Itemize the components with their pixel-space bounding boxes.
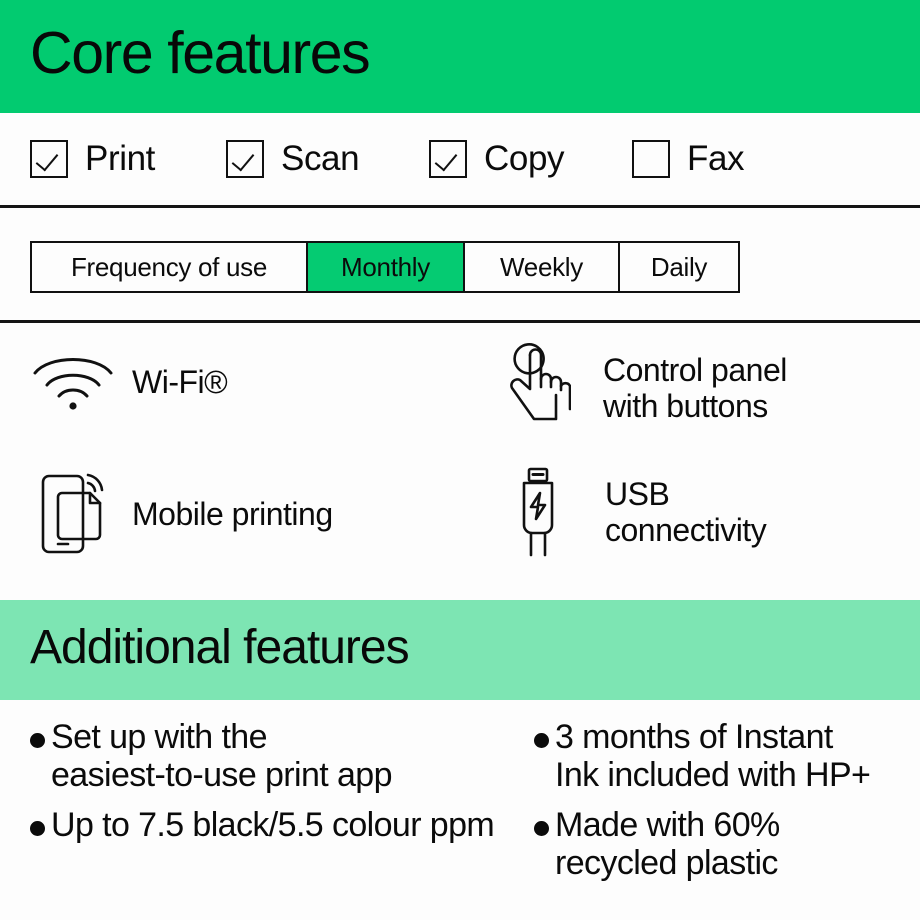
frequency-option-daily[interactable]: Daily [620,243,738,291]
checkbox-item-scan[interactable]: Scan [226,140,359,178]
additional-features-bullets: Set up with the easiest-to-use print app… [0,700,920,920]
bullet-column-left: Set up with the easiest-to-use print app… [30,718,530,856]
feature-item-usb: USB connectivity [495,466,766,558]
list-item: Set up with the easiest-to-use print app [30,718,530,794]
checkbox-label-fax: Fax [687,141,744,176]
checkbox-item-print[interactable]: Print [30,140,155,178]
bullet-text: Set up with the easiest-to-use print app [51,718,392,794]
checkbox-label-scan: Scan [281,141,359,176]
core-features-title: Core features [30,24,369,83]
feature-label-wifi: Wi-Fi® [132,364,227,400]
mobile-print-icon [30,471,116,557]
frequency-of-use-segmented-control[interactable]: Frequency of use Monthly Weekly Daily [30,241,740,293]
checkbox-item-copy[interactable]: Copy [429,140,564,178]
list-item: Made with 60% recycled plastic [534,806,914,882]
frequency-option-monthly[interactable]: Monthly [308,243,465,291]
feature-label-usb: USB connectivity [605,476,766,548]
checkbox-checked-icon[interactable] [429,140,467,178]
touch-hand-icon [495,343,581,433]
printer-features-panel: Core features Print Scan Copy Fax Freque… [0,0,920,920]
bullet-dot-icon [534,733,549,748]
feature-label-mobile-printing: Mobile printing [132,496,333,532]
checkbox-label-print: Print [85,141,155,176]
bullet-dot-icon [30,733,45,748]
bullet-dot-icon [534,821,549,836]
list-item: 3 months of Instant Ink included with HP… [534,718,914,794]
core-capability-checkbox-row: Print Scan Copy Fax [0,113,920,205]
core-features-header: Core features [0,0,920,113]
feature-item-control-panel: Control panel with buttons [495,343,787,433]
frequency-control-label: Frequency of use [32,243,308,291]
checkbox-unchecked-icon[interactable] [632,140,670,178]
bullet-text: Up to 7.5 black/5.5 colour ppm [51,806,494,844]
bullet-column-right: 3 months of Instant Ink included with HP… [534,718,914,894]
checkbox-item-fax[interactable]: Fax [632,140,744,178]
divider-rule-top [0,205,920,208]
wifi-icon [30,351,116,413]
bullet-dot-icon [30,821,45,836]
usb-cable-icon [495,466,581,558]
frequency-option-weekly[interactable]: Weekly [465,243,620,291]
feature-item-wifi: Wi-Fi® [30,351,227,413]
checkbox-label-copy: Copy [484,141,564,176]
feature-item-mobile-printing: Mobile printing [30,471,333,557]
bullet-text: Made with 60% recycled plastic [555,806,780,882]
checkbox-checked-icon[interactable] [30,140,68,178]
additional-features-title: Additional features [30,624,409,672]
feature-label-control-panel: Control panel with buttons [603,352,787,424]
bullet-text: 3 months of Instant Ink included with HP… [555,718,870,794]
list-item: Up to 7.5 black/5.5 colour ppm [30,806,530,844]
checkbox-checked-icon[interactable] [226,140,264,178]
additional-features-header: Additional features [0,600,920,700]
connectivity-feature-grid: Wi-Fi® Control panel with buttons [0,323,920,600]
